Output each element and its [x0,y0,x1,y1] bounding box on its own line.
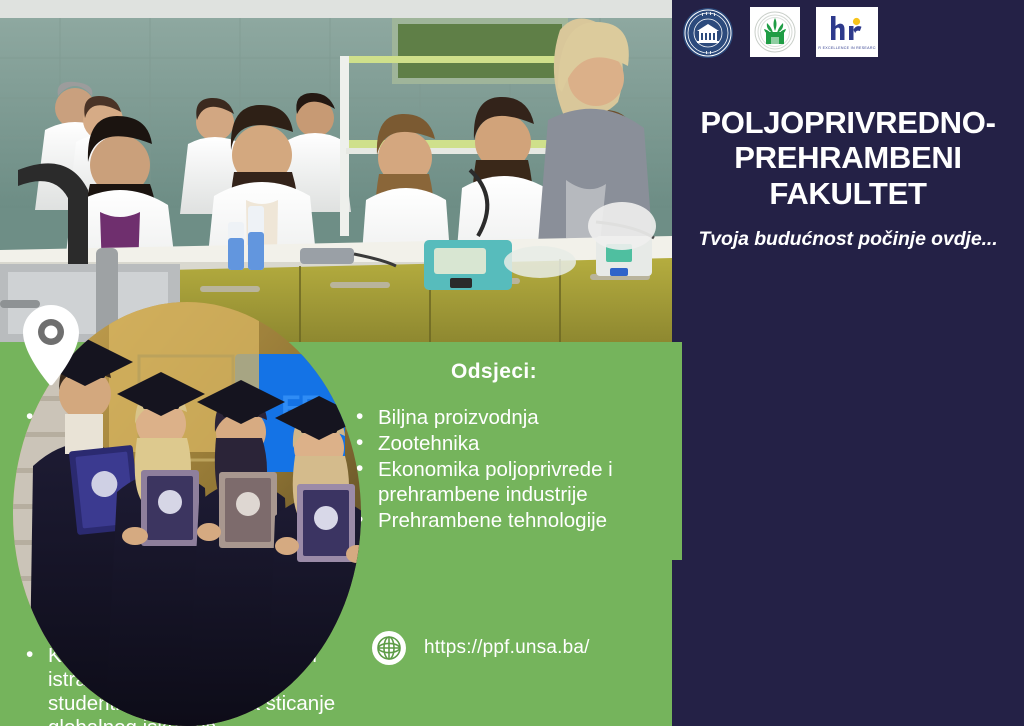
globe-icon-glyph [376,635,402,661]
faculty-plant-logo [750,7,800,57]
logo-row: HR EXCELLENCE IN RESEARCH [682,7,878,59]
tagline: Tvoja budućnost počinje ovdje... [672,228,1024,251]
green-accent-stripe [672,342,682,560]
faculty-panel: HR EXCELLENCE IN RESEARCH POLJOPRIVREDNO… [672,0,1024,726]
hr-excellence-icon: HR EXCELLENCE IN RESEARCH [818,9,876,55]
list-item: Prehrambene tehnologije [352,509,662,533]
university-seal-icon [682,7,734,59]
page-title-line-1: POLJOPRIVREDNO- [680,105,1016,140]
hr-logo-caption: HR EXCELLENCE IN RESEARCH [818,46,876,50]
page-title: POLJOPRIVREDNO- PREHRAMBENI FAKULTET [672,105,1024,211]
location-pin-icon [18,302,84,388]
page-title-line-3: FAKULTET [680,176,1016,211]
globe-icon [372,631,406,665]
lab-photo [0,0,672,342]
departments-list: Biljna proizvodnja Zootehnika Ekonomika … [352,406,662,533]
location-pin-glyph [18,302,84,388]
departments-heading: Odsjeci: [352,360,662,384]
page-title-line-2: PREHRAMBENI [680,140,1016,175]
hr-excellence-logo: HR EXCELLENCE IN RESEARCH [816,7,878,57]
website-link[interactable]: https://ppf.unsa.ba/ [372,631,590,665]
list-item: Biljna proizvodnja [352,406,662,430]
list-item: Zootehnika [352,432,662,456]
plant-emblem-icon [753,10,797,54]
poster-root: O NAMA Studentima pruža teorijska i prak… [0,0,1024,726]
website-url-text[interactable]: https://ppf.unsa.ba/ [424,637,590,659]
university-seal-logo [682,7,734,59]
departments-column: Odsjeci: Biljna proizvodnja Zootehnika E… [352,360,662,535]
list-item: Ekonomika poljoprivrede i prehrambene in… [352,458,662,506]
lab-photo-illustration [0,0,672,342]
